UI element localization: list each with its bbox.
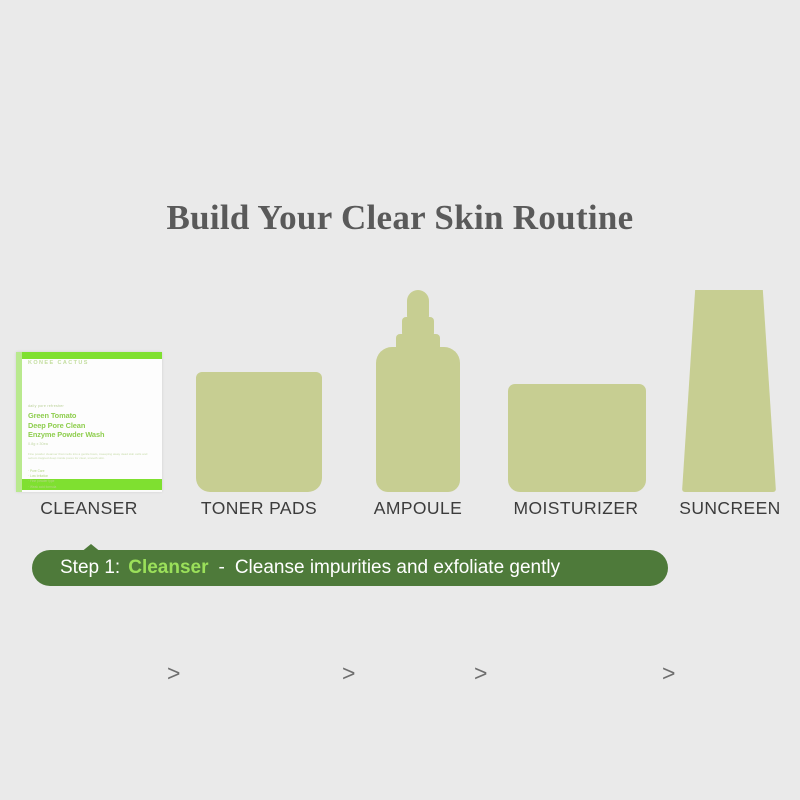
ampoule-bottle-body-icon (376, 347, 460, 492)
banner-product-name: Cleanser (128, 557, 208, 579)
suncreen-tube-icon (682, 290, 776, 492)
page-title: Build Your Clear Skin Routine (0, 198, 800, 238)
step-banner: Step 1: Cleanser - Cleanse impurities an… (32, 550, 668, 586)
routine-step-ampoule[interactable] (374, 262, 462, 492)
ampoule-dropper-bulb-icon (407, 290, 429, 320)
label-ampoule: AMPOULE (358, 498, 478, 519)
carton-top-band (22, 352, 162, 359)
toner-pads-jar-icon (196, 372, 322, 492)
carton-description: Fine powder cleanser that melts into a g… (28, 452, 150, 461)
moisturizer-jar-icon (508, 384, 646, 492)
banner-dash: - (219, 557, 225, 579)
cleanser-carton-icon: KONEE CACTUS daily pore refresher Green … (16, 352, 162, 492)
label-toner-pads: TONER PADS (190, 498, 328, 519)
step-callout: Step 1: Cleanser - Cleanse impurities an… (32, 544, 668, 586)
label-moisturizer: MOISTURIZER (500, 498, 652, 519)
routine-step-cleanser[interactable]: KONEE CACTUS daily pore refresher Green … (16, 262, 162, 492)
chevron-right-icon: > (342, 662, 355, 685)
chevron-right-icon: > (167, 662, 180, 685)
banner-step-number: Step 1: (60, 557, 120, 579)
chevron-right-icon: > (474, 662, 487, 685)
banner-description: Cleanse impurities and exfoliate gently (235, 557, 560, 579)
routine-step-suncreen[interactable] (682, 262, 776, 492)
carton-feature-bullets: · Pore Care · Low Irritation · Fine powd… (28, 469, 56, 490)
routine-labels-row: CLEANSER TONER PADS AMPOULE MOISTURIZER … (0, 498, 800, 524)
label-cleanser: CLEANSER (16, 498, 162, 519)
routine-step-moisturizer[interactable] (508, 262, 646, 492)
label-suncreen: SUNCREEN (668, 498, 792, 519)
carton-product-name: Green Tomato Deep Pore Clean Enzyme Powd… (28, 411, 104, 440)
routine-steps-row: KONEE CACTUS daily pore refresher Green … (0, 262, 800, 492)
routine-step-toner-pads[interactable] (196, 262, 322, 492)
chevron-right-icon: > (662, 662, 675, 685)
carton-eyebrow-text: daily pore refresher (28, 404, 64, 408)
carton-brand-logo: KONEE CACTUS (28, 360, 89, 367)
infographic-canvas: Build Your Clear Skin Routine KONEE CACT… (0, 0, 800, 800)
carton-net-weight: 0.8g x 30ea (28, 442, 48, 446)
